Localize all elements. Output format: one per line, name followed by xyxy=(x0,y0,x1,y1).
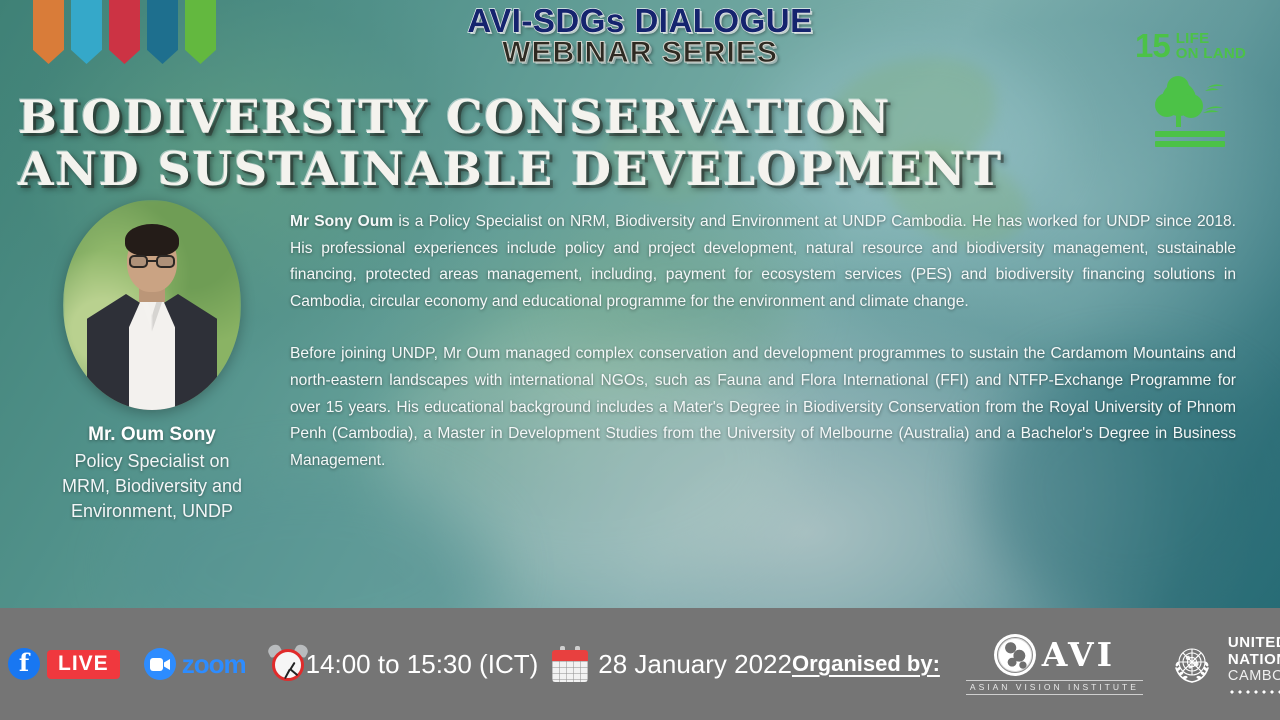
ribbon-strip-5 xyxy=(185,0,216,64)
avi-logo: AVI ASIAN VISION INSTITUTE xyxy=(966,634,1143,695)
event-time: 14:00 to 15:30 (ICT) xyxy=(306,649,539,680)
alarm-clock-icon xyxy=(268,644,308,684)
avatar-portrait xyxy=(63,200,241,410)
bio-paragraph-1: Mr Sony Oum is a Policy Specialist on NR… xyxy=(290,209,1236,315)
live-badge: LIVE xyxy=(47,650,120,679)
un-dotted-divider xyxy=(1228,690,1280,694)
sdg-15-badge: 15 LIFE ON LAND xyxy=(1135,30,1255,154)
sdg-label: LIFE ON LAND xyxy=(1176,31,1246,61)
un-country: CAMBODIA xyxy=(1228,668,1280,685)
avatar-hair xyxy=(125,224,179,256)
page-title-line-2: AND SUSTAINABLE DEVELOPMENT xyxy=(18,140,968,198)
un-logo-text: UNITED NATIONS CAMBODIA xyxy=(1228,634,1280,694)
speaker-block: Mr. Oum Sony Policy Specialist on MRM, B… xyxy=(42,200,262,524)
life-on-land-icon xyxy=(1147,73,1255,154)
sdg-number: 15 xyxy=(1135,30,1170,61)
calendar-icon xyxy=(552,646,588,682)
facebook-live-group[interactable]: f LIVE xyxy=(8,648,120,680)
avi-logo-row: AVI xyxy=(994,634,1115,676)
avi-tagline: ASIAN VISION INSTITUTE xyxy=(966,680,1143,695)
un-name: UNITED NATIONS xyxy=(1228,634,1280,668)
speaker-role-line-1: Policy Specialist on xyxy=(42,449,262,474)
footer-bar: f LIVE zoom 14:00 to 15:30 (ICT) xyxy=(0,608,1280,720)
avi-name: AVI xyxy=(1042,638,1115,671)
speaker-name: Mr. Oum Sony xyxy=(42,424,262,446)
bio-paragraph-1-text: is a Policy Specialist on NRM, Biodivers… xyxy=(290,213,1236,310)
webinar-poster: AVI-SDGs DIALOGUE WEBINAR SERIES BIODIVE… xyxy=(0,0,1280,720)
sdg-label-line-2: ON LAND xyxy=(1176,46,1246,61)
speaker-role-line-2: MRM, Biodiversity and xyxy=(42,474,262,499)
zoom-camera-icon[interactable] xyxy=(144,648,176,680)
un-cambodia-logo: UNITED NATIONS CAMBODIA xyxy=(1165,634,1280,694)
ribbon-strip-2 xyxy=(71,0,102,64)
bio-speaker-name: Mr Sony Oum xyxy=(290,213,393,230)
page-title-line-1: BIODIVERSITY CONSERVATION xyxy=(18,88,968,146)
sdg-badge-header: 15 LIFE ON LAND xyxy=(1135,30,1255,61)
footer-left-group: f LIVE zoom 14:00 to 15:30 (ICT) xyxy=(0,644,792,684)
globe-icon xyxy=(994,634,1036,676)
glasses-icon xyxy=(129,255,175,268)
event-date: 28 January 2022 xyxy=(598,649,792,680)
united-nations-emblem-icon xyxy=(1165,637,1219,691)
page-title: BIODIVERSITY CONSERVATION AND SUSTAINABL… xyxy=(18,88,968,198)
avatar-shirt xyxy=(129,296,175,410)
bio-paragraph-2: Before joining UNDP, Mr Oum managed comp… xyxy=(290,341,1236,474)
ribbon-strip-group xyxy=(33,0,216,64)
speaker-role-line-3: Environment, UNDP xyxy=(42,499,262,524)
zoom-label: zoom xyxy=(182,649,246,680)
footer-right-group: Organised by: AVI ASIAN VISION INSTITUTE xyxy=(792,634,1280,695)
sdg-label-line-1: LIFE xyxy=(1176,31,1246,46)
facebook-icon[interactable]: f xyxy=(8,648,40,680)
speaker-biography: Mr Sony Oum is a Policy Specialist on NR… xyxy=(290,209,1236,474)
ribbon-strip-3 xyxy=(109,0,140,64)
speaker-role: Policy Specialist on MRM, Biodiversity a… xyxy=(42,449,262,524)
ribbon-strip-1 xyxy=(33,0,64,64)
ribbon-strip-4 xyxy=(147,0,178,64)
organised-by-label: Organised by: xyxy=(792,651,940,677)
avatar xyxy=(63,200,241,410)
